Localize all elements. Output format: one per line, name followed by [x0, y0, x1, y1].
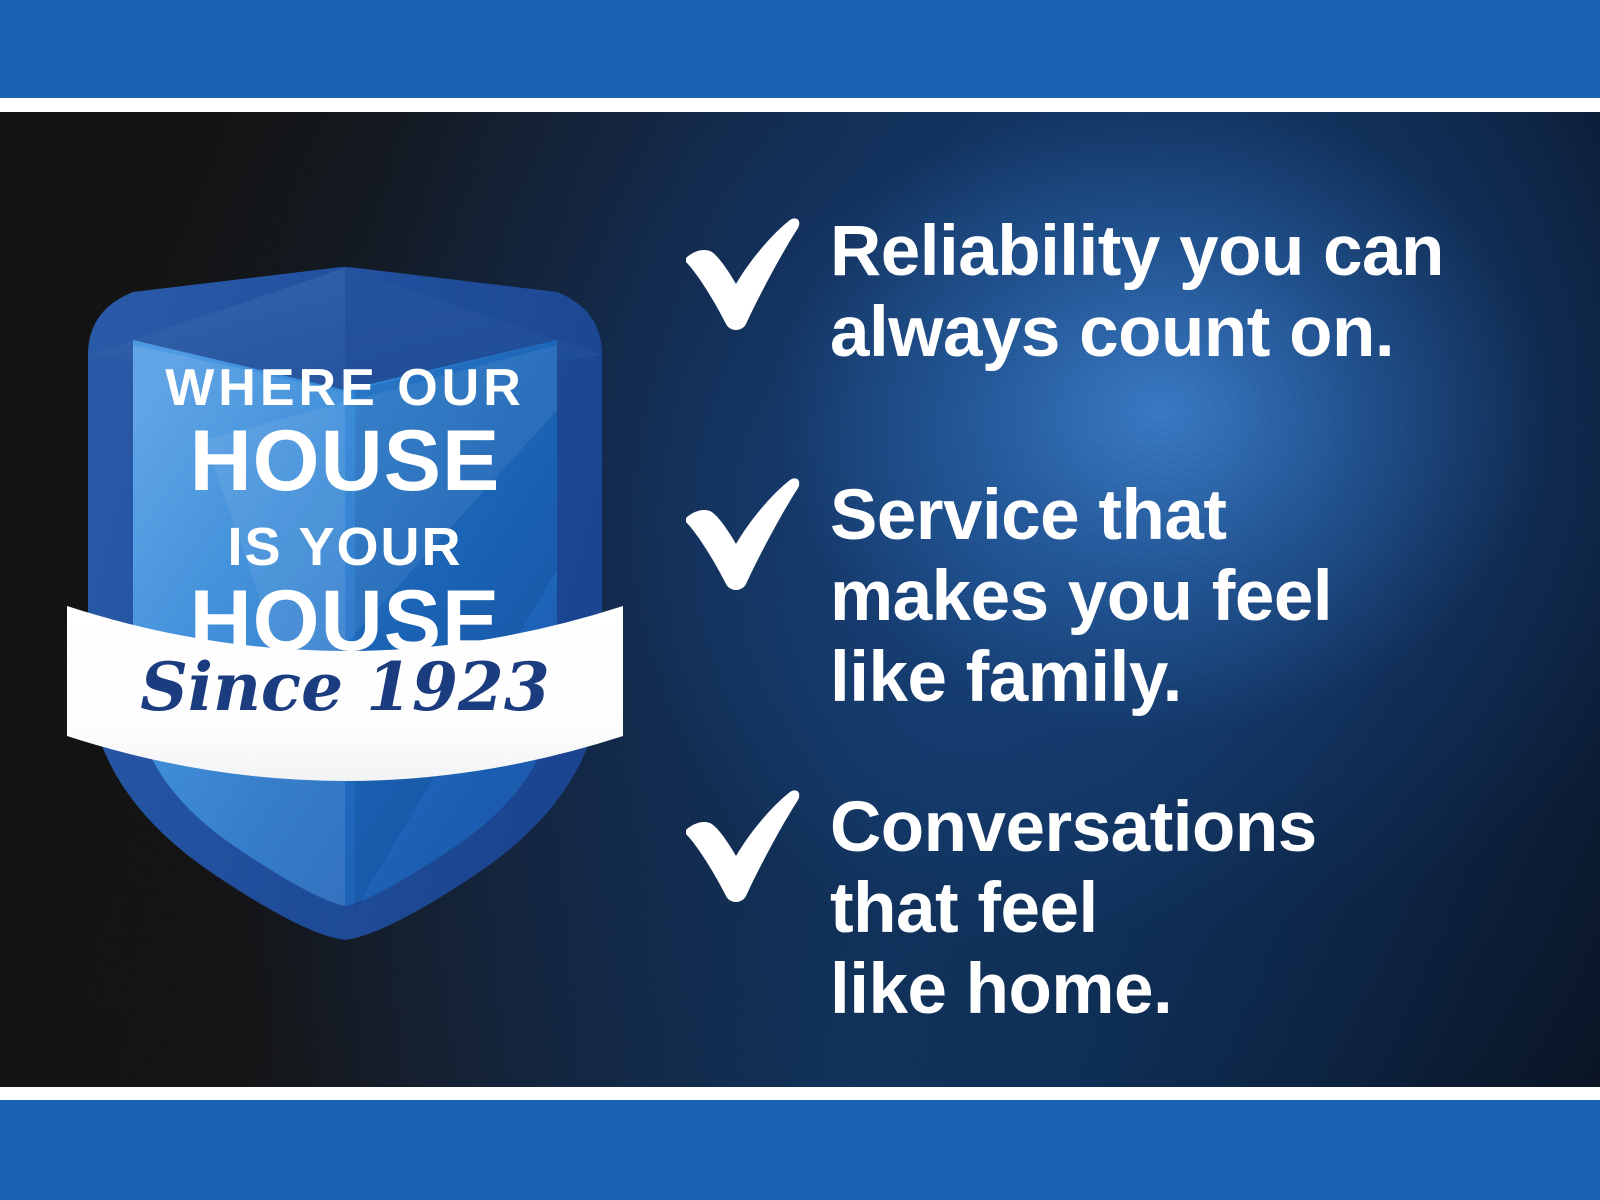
benefits-list: Reliability you can always count on. Ser…: [672, 112, 1552, 1087]
benefit-item-2: Service that makes you feel like family.: [672, 472, 1332, 719]
bottom-white-divider: [0, 1087, 1600, 1100]
benefit-text-3: Conversations that feel like home.: [830, 784, 1317, 1031]
benefit-item-3: Conversations that feel like home.: [672, 784, 1317, 1031]
checkmark-icon: [672, 472, 804, 596]
top-white-divider: [0, 98, 1600, 112]
promo-graphic: WHERE OUR HOUSE IS YOUR HOUSE Since 1923…: [0, 0, 1600, 1200]
checkmark-icon: [672, 212, 804, 336]
badge-line-3: IS YOUR: [227, 517, 462, 577]
badge-ribbon-text: Since 1923: [140, 648, 550, 726]
checkmark-icon: [672, 784, 804, 908]
shield-badge: WHERE OUR HOUSE IS YOUR HOUSE Since 1923: [55, 140, 635, 960]
benefit-item-1: Reliability you can always count on.: [672, 212, 1444, 374]
badge-line-1: WHERE OUR: [165, 359, 525, 417]
top-brand-bar: [0, 0, 1600, 98]
benefit-text-1: Reliability you can always count on.: [830, 212, 1444, 374]
benefit-text-2: Service that makes you feel like family.: [830, 472, 1332, 719]
bottom-brand-bar: [0, 1100, 1600, 1200]
badge-line-2: HOUSE: [190, 413, 501, 509]
